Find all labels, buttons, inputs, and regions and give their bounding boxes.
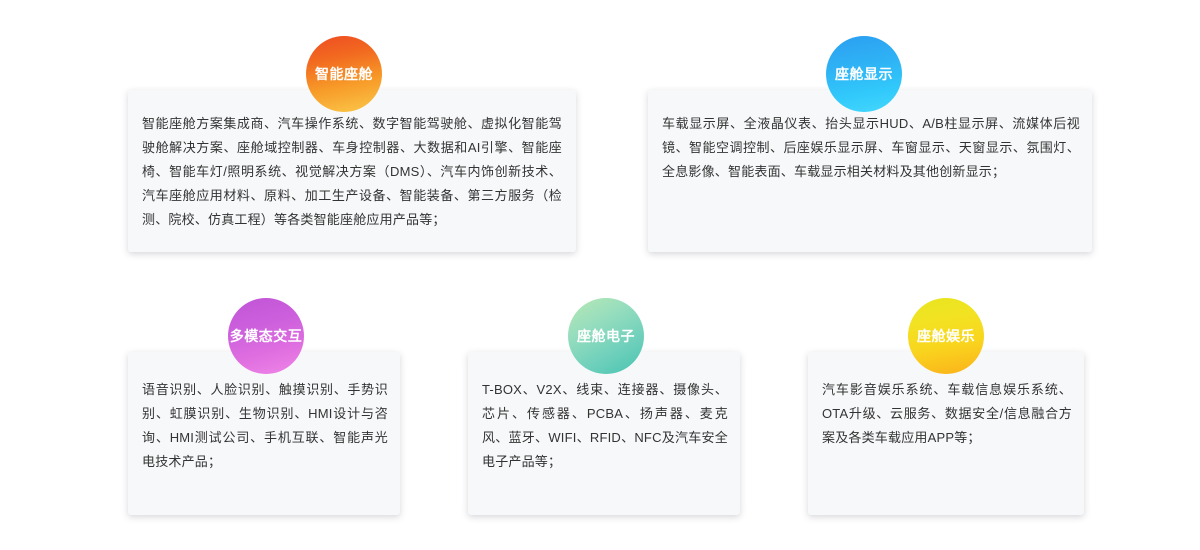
badge-multimodal-interaction[interactable]: 多模态交互 <box>228 298 304 374</box>
card-body-cockpit-display: 车载显示屏、全液晶仪表、抬头显示HUD、A/B柱显示屏、流媒体后视镜、智能空调控… <box>662 112 1080 184</box>
badge-label-multimodal-interaction: 多模态交互 <box>230 329 303 343</box>
card-cockpit-display[interactable]: 车载显示屏、全液晶仪表、抬头显示HUD、A/B柱显示屏、流媒体后视镜、智能空调控… <box>648 90 1092 252</box>
badge-label-cockpit-display: 座舱显示 <box>835 67 893 81</box>
card-smart-cockpit[interactable]: 智能座舱方案集成商、汽车操作系统、数字智能驾驶舱、虚拟化智能驾驶舱解决方案、座舱… <box>128 90 576 252</box>
badge-cockpit-electronics[interactable]: 座舱电子 <box>568 298 644 374</box>
card-body-multimodal-interaction: 语音识别、人脸识别、触摸识别、手势识别、虹膜识别、生物识别、HMI设计与咨询、H… <box>142 378 388 474</box>
card-cockpit-entertainment[interactable]: 汽车影音娱乐系统、车载信息娱乐系统、OTA升级、云服务、数据安全/信息融合方案及… <box>808 352 1084 515</box>
badge-smart-cockpit[interactable]: 智能座舱 <box>306 36 382 112</box>
badge-label-smart-cockpit: 智能座舱 <box>315 67 373 81</box>
card-cockpit-electronics[interactable]: T-BOX、V2X、线束、连接器、摄像头、芯片、传感器、PCBA、扬声器、麦克风… <box>468 352 740 515</box>
card-body-smart-cockpit: 智能座舱方案集成商、汽车操作系统、数字智能驾驶舱、虚拟化智能驾驶舱解决方案、座舱… <box>142 112 562 232</box>
card-body-cockpit-electronics: T-BOX、V2X、线束、连接器、摄像头、芯片、传感器、PCBA、扬声器、麦克风… <box>482 378 728 474</box>
category-cards-board: 智能座舱方案集成商、汽车操作系统、数字智能驾驶舱、虚拟化智能驾驶舱解决方案、座舱… <box>0 0 1200 550</box>
badge-cockpit-display[interactable]: 座舱显示 <box>826 36 902 112</box>
card-multimodal-interaction[interactable]: 语音识别、人脸识别、触摸识别、手势识别、虹膜识别、生物识别、HMI设计与咨询、H… <box>128 352 400 515</box>
badge-label-cockpit-electronics: 座舱电子 <box>577 329 635 343</box>
badge-cockpit-entertainment[interactable]: 座舱娱乐 <box>908 298 984 374</box>
card-body-cockpit-entertainment: 汽车影音娱乐系统、车载信息娱乐系统、OTA升级、云服务、数据安全/信息融合方案及… <box>822 378 1072 450</box>
badge-label-cockpit-entertainment: 座舱娱乐 <box>917 329 975 343</box>
